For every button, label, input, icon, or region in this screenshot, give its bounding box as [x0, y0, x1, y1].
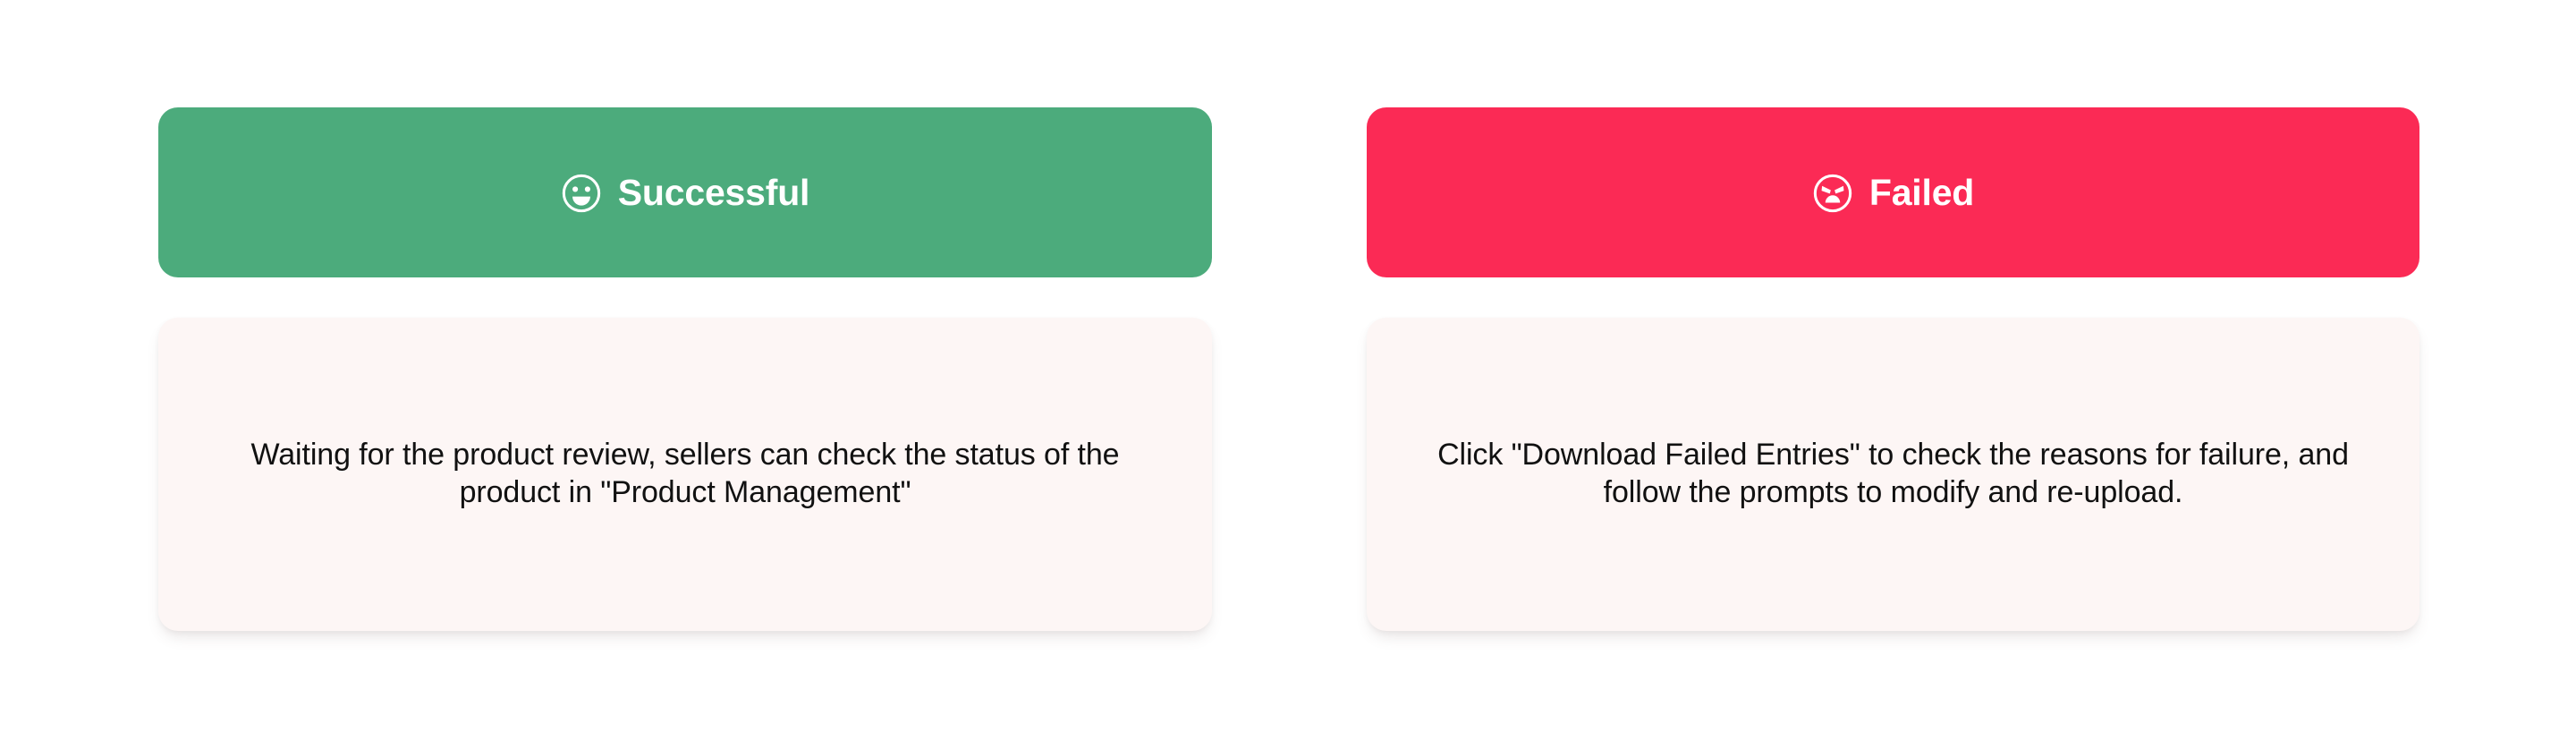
- status-body-text-successful: Waiting for the product review, sellers …: [217, 437, 1153, 512]
- status-body-card-successful: Waiting for the product review, sellers …: [158, 318, 1212, 631]
- smiley-face-icon: [561, 173, 602, 214]
- status-header-label-successful: Successful: [618, 175, 810, 211]
- status-body-text-failed: Click "Download Failed Entries" to check…: [1426, 437, 2360, 512]
- status-column-failed: Failed Click "Download Failed Entries" t…: [1367, 107, 2419, 631]
- status-column-successful: Successful Waiting for the product revie…: [158, 107, 1212, 631]
- status-body-card-failed: Click "Download Failed Entries" to check…: [1367, 318, 2419, 631]
- status-header-label-failed: Failed: [1869, 175, 1974, 211]
- angry-face-icon: [1812, 173, 1853, 214]
- status-board: Successful Waiting for the product revie…: [0, 0, 2576, 741]
- status-header-successful[interactable]: Successful: [158, 107, 1212, 277]
- status-header-failed[interactable]: Failed: [1367, 107, 2419, 277]
